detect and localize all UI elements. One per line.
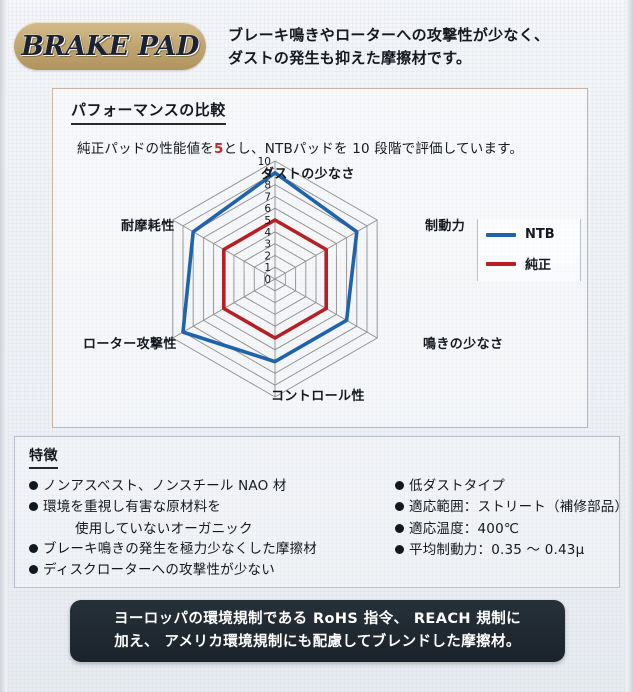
radar-label-wear: 耐摩耗性 — [121, 215, 175, 234]
features-title: 特徴 — [29, 445, 58, 469]
performance-panel: パフォーマンスの比較 純正パッドの性能値を5とし、NTBパッドを 10 段階で評… — [52, 88, 588, 428]
features-columns: ノンアスベスト、ノンスチール NAO 材 環境を重視し有害な原材料を 使用してい… — [29, 476, 607, 581]
feature-item: 環境を重視し有害な原材料を — [29, 497, 381, 517]
svg-text:0: 0 — [264, 274, 271, 286]
product-sheet: BRAKE PAD ブレーキ鳴きやローターへの攻撃性が少なく、 ダストの発生も抑… — [0, 0, 633, 692]
compliance-banner: ヨーロッパの環境規制である RoHS 指令、 REACH 規制に 加え、 アメリ… — [70, 600, 565, 662]
bullet-icon — [29, 565, 38, 574]
page-edge-left — [0, 0, 7, 692]
radar-label-braking: 制動力 — [425, 215, 465, 234]
bullet-icon — [395, 502, 404, 511]
radar-chart: 10 9 8 7 6 5 4 3 2 1 0 — [75, 149, 475, 419]
feature-text: ノンアスベスト、ノンスチール NAO 材 — [43, 476, 287, 496]
legend-label-genuine: 純正 — [525, 254, 551, 273]
bullet-icon — [29, 544, 38, 553]
page-edge-right — [626, 0, 633, 692]
feature-text: 低ダストタイプ — [409, 476, 505, 496]
feature-item: ディスクローターへの攻撃性が少ない — [29, 560, 381, 580]
legend-swatch-genuine — [486, 262, 516, 266]
logo-text: BRAKE PAD — [21, 31, 199, 62]
feature-text: ブレーキ鳴きの発生を極力少なくした摩擦材 — [43, 539, 317, 559]
svg-text:2: 2 — [264, 250, 271, 262]
header-lead-line2: ダストの発生も抑えた摩擦材です。 — [228, 47, 549, 70]
feature-text: 適応温度：400℃ — [409, 519, 519, 539]
feature-item: 適応範囲：ストリート（補修部品） — [395, 497, 627, 517]
bullet-icon — [29, 481, 38, 490]
performance-title: パフォーマンスの比較 — [71, 99, 226, 125]
svg-text:7: 7 — [264, 191, 271, 203]
radar-label-dust: ダストの少なさ — [261, 163, 355, 182]
compliance-banner-line2: 加え、 アメリカ環境規制にも配慮してブレンドした摩擦材。 — [114, 631, 521, 654]
feature-text-continuation: 使用していないオーガニック — [29, 519, 381, 539]
performance-title-wrap: パフォーマンスの比較 — [53, 89, 587, 125]
features-column-left: ノンアスベスト、ノンスチール NAO 材 環境を重視し有害な原材料を 使用してい… — [29, 476, 381, 581]
chart-legend: NTB 純正 — [477, 219, 581, 281]
header-lead-line1: ブレーキ鳴きやローターへの攻撃性が少なく、 — [228, 24, 549, 47]
feature-item: 適応温度：400℃ — [395, 519, 627, 539]
svg-text:4: 4 — [264, 227, 271, 239]
radar-label-noise: 鳴きの少なさ — [423, 333, 503, 352]
features-panel: 特徴 ノンアスベスト、ノンスチール NAO 材 環境を重視し有害な原材料を 使用… — [14, 436, 620, 588]
radar-label-rotor: ローター攻撃性 — [83, 333, 177, 352]
header-lead-text: ブレーキ鳴きやローターへの攻撃性が少なく、 ダストの発生も抑えた摩擦材です。 — [228, 22, 549, 71]
compliance-banner-text: ヨーロッパの環境規制である RoHS 指令、 REACH 規制に 加え、 アメリ… — [114, 608, 521, 654]
radar-chart-area: 10 9 8 7 6 5 4 3 2 1 0 ダストの少なさ 制動力 鳴きの少な… — [53, 157, 589, 422]
feature-item: ブレーキ鳴きの発生を極力少なくした摩擦材 — [29, 539, 381, 559]
feature-item: 低ダストタイプ — [395, 476, 627, 496]
legend-item-genuine: 純正 — [486, 254, 580, 273]
features-column-right: 低ダストタイプ 適応範囲：ストリート（補修部品） 適応温度：400℃ 平均制動力… — [395, 476, 627, 581]
header: BRAKE PAD ブレーキ鳴きやローターへの攻撃性が少なく、 ダストの発生も抑… — [14, 22, 620, 84]
feature-text: ディスクローターへの攻撃性が少ない — [43, 560, 275, 580]
bullet-icon — [395, 481, 404, 490]
feature-text: 適応範囲：ストリート（補修部品） — [409, 497, 627, 517]
feature-text: 環境を重視し有害な原材料を — [43, 497, 221, 517]
legend-swatch-ntb — [486, 233, 516, 237]
legend-label-ntb: NTB — [525, 227, 555, 242]
bullet-icon — [395, 524, 404, 533]
compliance-banner-line1: ヨーロッパの環境規制である RoHS 指令、 REACH 規制に — [114, 608, 521, 631]
svg-text:1: 1 — [264, 262, 271, 274]
svg-text:5: 5 — [264, 215, 271, 227]
feature-item: ノンアスベスト、ノンスチール NAO 材 — [29, 476, 381, 496]
feature-item: 平均制動力：0.35 〜 0.43μ — [395, 540, 627, 560]
svg-text:6: 6 — [264, 203, 271, 215]
svg-text:3: 3 — [264, 239, 271, 251]
bullet-icon — [29, 502, 38, 511]
bullet-icon — [395, 545, 404, 554]
feature-text: 平均制動力：0.35 〜 0.43μ — [409, 540, 584, 560]
legend-item-ntb: NTB — [486, 227, 580, 242]
brake-pad-logo: BRAKE PAD — [14, 22, 206, 70]
radar-label-control: コントロール性 — [271, 385, 365, 404]
